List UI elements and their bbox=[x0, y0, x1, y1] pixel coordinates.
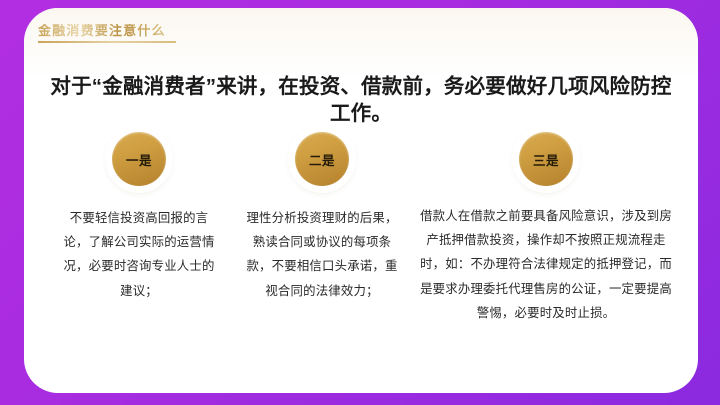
point-text-3: 借款人在借款之前要具备风险意识，涉及到房产抵押借款投资，操作却不按照正规流程走时… bbox=[420, 204, 672, 325]
point-badge-3: 三是 bbox=[519, 132, 573, 186]
section-eyebrow-underline bbox=[38, 41, 176, 43]
section-eyebrow-label: 金融消费要注意什么 bbox=[38, 24, 176, 38]
section-eyebrow: 金融消费要注意什么 bbox=[38, 24, 176, 43]
point-badge-1: 一是 bbox=[112, 132, 166, 186]
point-text-1: 不要轻信投资高回报的言论，了解公司实际的运营情况，必要时咨询专业人士的建议； bbox=[63, 206, 215, 303]
slide-root: 金融消费要注意什么 对于“金融消费者”来讲，在投资、借款前，务必要做好几项风险防… bbox=[0, 0, 720, 405]
point-badge-ring-1: 一是 bbox=[108, 128, 170, 190]
page-title: 对于“金融消费者”来讲，在投资、借款前，务必要做好几项风险防控工作。 bbox=[24, 74, 698, 127]
point-badge-2: 二是 bbox=[295, 132, 349, 186]
point-badge-ring-3: 三是 bbox=[515, 128, 577, 190]
point-badge-ring-2: 二是 bbox=[291, 128, 353, 190]
point-column-2: 二是 理性分析投资理财的后果，熟读合同或协议的每项条款，不要相信口头承诺，重视合… bbox=[230, 128, 414, 373]
points-columns: 一是 不要轻信投资高回报的言论，了解公司实际的运营情况，必要时咨询专业人士的建议… bbox=[48, 128, 678, 373]
point-text-2: 理性分析投资理财的后果，熟读合同或协议的每项条款，不要相信口头承诺，重视合同的法… bbox=[245, 206, 400, 303]
content-card: 金融消费要注意什么 对于“金融消费者”来讲，在投资、借款前，务必要做好几项风险防… bbox=[24, 8, 698, 393]
point-column-1: 一是 不要轻信投资高回报的言论，了解公司实际的运营情况，必要时咨询专业人士的建议… bbox=[48, 128, 230, 373]
point-column-3: 三是 借款人在借款之前要具备风险意识，涉及到房产抵押借款投资，操作却不按照正规流… bbox=[414, 128, 678, 373]
